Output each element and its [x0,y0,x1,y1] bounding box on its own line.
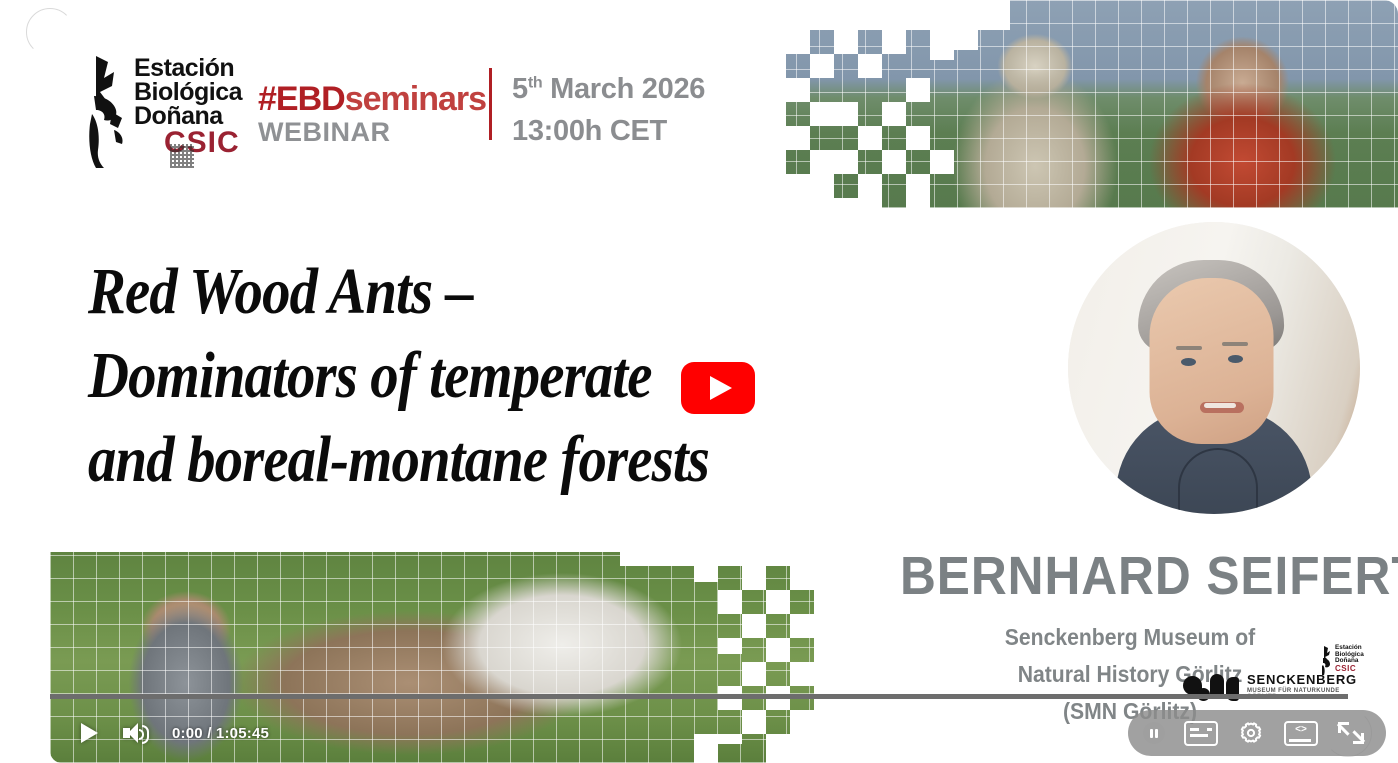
fieldwork-photo-top-right [750,0,1398,208]
subtitles-button[interactable] [1178,713,1224,753]
ebd-csic-logo: Estación Biológica Doñana CSIC [88,52,248,170]
video-player-thumbnail[interactable]: Estación Biológica Doñana CSIC #EBDsemin… [0,0,1398,763]
play-icon [81,723,98,743]
youtube-play-button[interactable] [681,362,755,414]
pause-icon [1143,722,1165,744]
title-line-3: and boreal-montane forests [88,418,802,502]
series-hashtag: #EBD [258,80,345,118]
mosaic-dissolve-right [620,552,850,763]
ebd-logo-line-2: Biológica [134,80,250,104]
fullscreen-expand-icon [1338,722,1364,744]
speaker-portrait [1068,222,1360,514]
time-display: 0:00 / 1:05:45 [172,725,269,742]
affiliation-line-1: Senckenberg Museum of [900,619,1360,656]
ebd-logo-line-3: Doñana [134,104,250,128]
mini-ebd-csic-logo: Estación Biológica Doñana CSIC [1322,645,1382,677]
header-band: Estación Biológica Doñana CSIC #EBDsemin… [0,0,1398,215]
mini-lynx-icon [1322,645,1335,675]
play-button[interactable] [66,713,112,753]
miniplayer-icon [1284,721,1318,746]
miniplayer-button[interactable] [1278,713,1324,753]
gear-icon [1239,721,1263,745]
seminar-series-title: #EBDseminars WEBINAR [258,82,486,146]
event-date: 5th March 2026 [512,68,705,110]
header-divider [489,68,492,140]
volume-button[interactable] [112,713,158,753]
speaker-name: BERNHARD SEIFERT [900,548,1360,605]
player-controls-right [1128,710,1386,756]
event-time: 13:00h CET [512,110,705,152]
subtitles-cc-icon [1184,721,1218,746]
volume-icon [123,723,147,743]
lynx-silhouette-icon [88,52,140,168]
senckenberg-logo: SENCKENBERG MUSEUM FÜR NATURKUNDE GÖRLIT… [1183,672,1338,708]
series-subtitle: WEBINAR [258,118,486,146]
fullscreen-button[interactable] [1328,713,1374,753]
csic-mark-icon [170,144,194,168]
pause-button[interactable] [1134,713,1174,753]
ebd-logo-line-1: Estación [134,56,250,80]
mini-ebd-csic: CSIC [1335,665,1364,673]
title-line-1: Red Wood Ants – [88,250,802,334]
ebd-logo-wordmark: Estación Biológica Doñana CSIC [134,56,250,158]
series-name: seminars [345,80,486,118]
progress-bar[interactable] [50,694,1348,699]
event-datetime: 5th March 2026 13:00h CET [512,68,705,152]
mosaic-dissolve-left [750,0,1010,208]
settings-button[interactable] [1228,713,1274,753]
player-controls-left: 0:00 / 1:05:45 [66,713,269,753]
